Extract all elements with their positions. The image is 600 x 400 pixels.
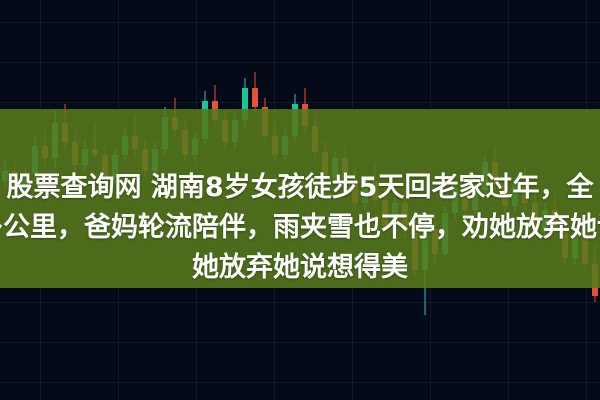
green-overlay-band	[0, 109, 600, 288]
candlestick-body	[252, 88, 258, 107]
banner-image: 股票查询网 湖南8岁女孩徒步5天回老家过年，全 多公里，爸妈轮流陪伴，雨夹雪也不…	[0, 0, 600, 400]
candlestick	[252, 72, 258, 114]
